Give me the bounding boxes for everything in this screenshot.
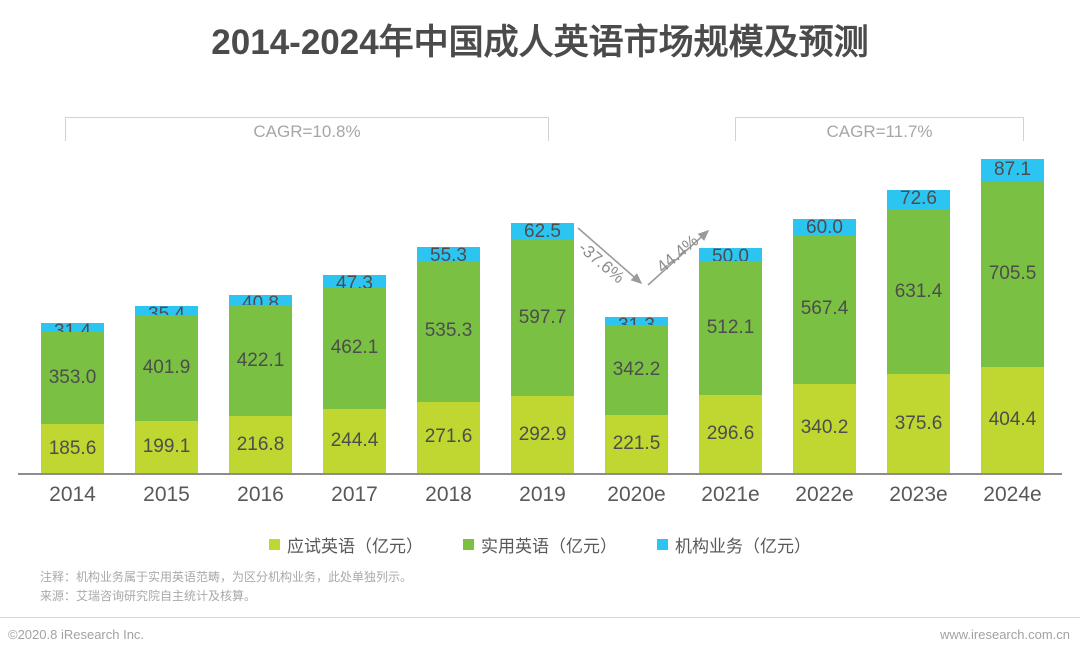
note-line-1: 注释：机构业务属于实用英语范畴，为区分机构业务，此处单独列示。 <box>40 568 412 587</box>
bar-segment-institution: 87.1 <box>981 159 1044 182</box>
segment-value-label: 375.6 <box>895 413 943 435</box>
bar-segment-practical: 401.9 <box>135 315 198 420</box>
website-link[interactable]: www.iresearch.com.cn <box>940 627 1070 642</box>
segment-value-label: 567.4 <box>801 298 849 320</box>
bar-column[interactable]: 40.8422.1216.8 <box>229 295 292 473</box>
segment-value-label: 535.3 <box>425 320 473 342</box>
x-axis-line <box>18 473 1062 475</box>
legend-item-exam[interactable]: 应试英语（亿元） <box>269 532 423 557</box>
legend-item-label: 实用英语（亿元） <box>481 532 617 557</box>
copyright-text: ©2020.8 iResearch Inc. <box>8 627 144 642</box>
page-footer: ©2020.8 iResearch Inc. www.iresearch.com… <box>0 624 1080 652</box>
segment-value-label: 221.5 <box>613 433 661 455</box>
plot-area: 31.4353.0185.635.4401.9199.140.8422.1216… <box>0 0 1080 475</box>
x-axis-category-label: 2022e <box>775 483 875 507</box>
segment-value-label: 216.8 <box>237 434 285 456</box>
bar-segment-exam: 199.1 <box>135 421 198 473</box>
footer-divider <box>0 617 1080 618</box>
bar-segment-institution: 50.0 <box>699 248 762 261</box>
legend-swatch-icon <box>657 539 668 550</box>
bar-segment-practical: 567.4 <box>793 235 856 384</box>
bar-segment-practical: 342.2 <box>605 325 668 415</box>
x-axis-category-label: 2017 <box>305 483 405 507</box>
segment-value-label: 342.2 <box>613 359 661 381</box>
x-axis-category-label: 2015 <box>117 483 217 507</box>
segment-value-label: 185.6 <box>49 438 97 460</box>
bar-column[interactable]: 72.6631.4375.6 <box>887 190 950 473</box>
x-axis-category-label: 2018 <box>399 483 499 507</box>
bar-segment-institution: 40.8 <box>229 295 292 306</box>
chart-notes: 注释：机构业务属于实用英语范畴，为区分机构业务，此处单独列示。 来源：艾瑞咨询研… <box>40 568 412 605</box>
legend-item-practical[interactable]: 实用英语（亿元） <box>463 532 617 557</box>
segment-value-label: 296.6 <box>707 423 755 445</box>
chart-page: 2014-2024年中国成人英语市场规模及预测 CAGR=10.8% CAGR=… <box>0 0 1080 652</box>
bar-segment-practical: 462.1 <box>323 288 386 409</box>
segment-value-label: 244.4 <box>331 430 379 452</box>
bar-segment-practical: 597.7 <box>511 239 574 396</box>
bar-segment-practical: 631.4 <box>887 209 950 375</box>
bar-segment-exam: 375.6 <box>887 374 950 473</box>
segment-value-label: 87.1 <box>994 159 1031 181</box>
bar-segment-institution: 72.6 <box>887 190 950 209</box>
bar-column[interactable]: 31.3342.2221.5 <box>605 317 668 473</box>
segment-value-label: 292.9 <box>519 424 567 446</box>
bar-column[interactable]: 35.4401.9199.1 <box>135 306 198 473</box>
segment-value-label: 340.2 <box>801 417 849 439</box>
bar-segment-exam: 340.2 <box>793 384 856 473</box>
bar-segment-exam: 216.8 <box>229 416 292 473</box>
segment-value-label: 422.1 <box>237 350 285 372</box>
bar-segment-practical: 705.5 <box>981 182 1044 367</box>
segment-value-label: 353.0 <box>49 367 97 389</box>
legend-item-label: 机构业务（亿元） <box>675 532 811 557</box>
bar-column[interactable]: 87.1705.5404.4 <box>981 159 1044 473</box>
bar-segment-institution: 35.4 <box>135 306 198 315</box>
bar-segment-exam: 244.4 <box>323 409 386 473</box>
bar-segment-exam: 221.5 <box>605 415 668 473</box>
bar-segment-exam: 271.6 <box>417 402 480 473</box>
bar-column[interactable]: 55.3535.3271.6 <box>417 247 480 473</box>
segment-value-label: 401.9 <box>143 357 191 379</box>
bar-segment-institution: 47.3 <box>323 275 386 287</box>
legend-swatch-icon <box>269 539 280 550</box>
segment-value-label: 404.4 <box>989 409 1037 431</box>
bar-column[interactable]: 62.5597.7292.9 <box>511 223 574 473</box>
bar-segment-institution: 31.4 <box>41 323 104 331</box>
note-line-2: 来源：艾瑞咨询研究院自主统计及核算。 <box>40 587 412 606</box>
bar-segment-exam: 296.6 <box>699 395 762 473</box>
bar-segment-exam: 292.9 <box>511 396 574 473</box>
segment-value-label: 72.6 <box>900 188 937 210</box>
bar-segment-institution: 62.5 <box>511 223 574 239</box>
bar-segment-institution: 60.0 <box>793 219 856 235</box>
bar-column[interactable]: 31.4353.0185.6 <box>41 323 104 473</box>
legend-item-label: 应试英语（亿元） <box>287 532 423 557</box>
chart-legend: 应试英语（亿元）实用英语（亿元）机构业务（亿元） <box>0 532 1080 557</box>
legend-item-institution[interactable]: 机构业务（亿元） <box>657 532 811 557</box>
bar-segment-exam: 404.4 <box>981 367 1044 473</box>
x-axis-category-label: 2019 <box>493 483 593 507</box>
bar-segment-practical: 512.1 <box>699 261 762 395</box>
bar-column[interactable]: 60.0567.4340.2 <box>793 219 856 473</box>
bar-segment-institution: 55.3 <box>417 247 480 262</box>
segment-value-label: 705.5 <box>989 263 1037 285</box>
segment-value-label: 199.1 <box>143 436 191 458</box>
x-axis-category-label: 2014 <box>23 483 123 507</box>
segment-value-label: 597.7 <box>519 307 567 329</box>
legend-swatch-icon <box>463 539 474 550</box>
segment-value-label: 271.6 <box>425 426 473 448</box>
bar-segment-institution: 31.3 <box>605 317 668 325</box>
segment-value-label: 631.4 <box>895 281 943 303</box>
bar-column[interactable]: 47.3462.1244.4 <box>323 275 386 473</box>
x-axis-category-label: 2023e <box>869 483 969 507</box>
segment-value-label: 512.1 <box>707 317 755 339</box>
x-axis-category-label: 2020e <box>587 483 687 507</box>
segment-value-label: 462.1 <box>331 337 379 359</box>
x-axis-category-label: 2024e <box>963 483 1063 507</box>
x-axis-category-label: 2016 <box>211 483 311 507</box>
bar-segment-practical: 422.1 <box>229 305 292 416</box>
bar-segment-practical: 353.0 <box>41 332 104 425</box>
bar-segment-practical: 535.3 <box>417 261 480 402</box>
x-axis-category-label: 2021e <box>681 483 781 507</box>
bar-column[interactable]: 50.0512.1296.6 <box>699 248 762 473</box>
bar-segment-exam: 185.6 <box>41 424 104 473</box>
